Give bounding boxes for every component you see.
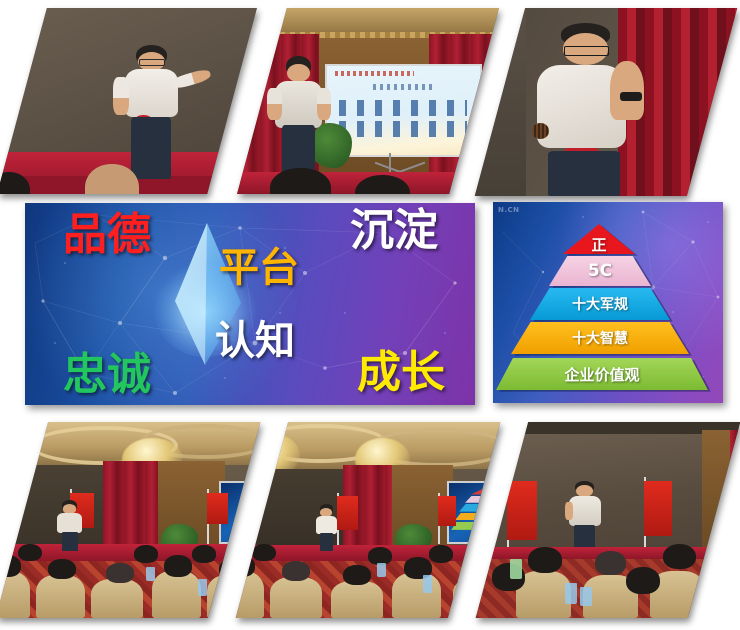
pyramid-level-2-label: 5C [588, 261, 612, 281]
red-flag [645, 481, 672, 536]
banner-word-renzhi: 认知 [215, 321, 295, 361]
scene-audience-left [0, 422, 260, 618]
water-bottle [377, 563, 386, 577]
scene-presenter-flags [476, 422, 740, 618]
values-keyword-banner: 品德 沉淀 平台 认知 忠诚 成长 [25, 203, 475, 405]
pyramid-level-1-label: 正 [591, 234, 606, 255]
pyramid-level-4-label: 十大智慧 [572, 328, 628, 348]
photo-speaker-with-projection-screen[interactable] [237, 8, 499, 194]
photo-audience-with-pyramid-slide[interactable] [236, 422, 501, 618]
banner-word-zhongcheng: 忠诚 [63, 353, 151, 397]
water-bottle [581, 587, 593, 607]
water-bottle [198, 579, 207, 597]
water-bottle [565, 583, 577, 605]
pyramid-level-5-label: 企业价值观 [564, 364, 639, 385]
scene-closeup-curtain [475, 8, 737, 196]
presenter [55, 500, 86, 551]
presenter [565, 481, 605, 555]
water-bottle [423, 575, 432, 593]
banner-word-pinde: 品德 [63, 213, 151, 257]
photo-presenter-between-two-flags[interactable] [476, 422, 740, 618]
photo-collage: 品德 沉淀 平台 认知 忠诚 成长 N.CN [0, 0, 740, 630]
corporate-culture-pyramid-panel: N.CN 正 5C 十大军规 十大智慧 企业价值观 [493, 202, 723, 403]
water-bottle [146, 567, 155, 581]
scene-audience-center [236, 422, 501, 618]
watermark-text: N.CN [498, 206, 520, 214]
red-flag [507, 481, 538, 540]
presenter [527, 23, 661, 196]
photo-speaker-gesturing-left[interactable] [0, 8, 257, 194]
banner-word-pingtai: 平台 [219, 248, 299, 288]
photo-audience-wide-view-left[interactable] [0, 422, 260, 618]
scene-stage-left [0, 8, 257, 194]
water-bottle [510, 559, 522, 579]
pyramid-level-3-label: 十大军规 [572, 294, 628, 314]
pyramid-level-4[interactable]: 十大智慧 [511, 322, 689, 354]
presenter [109, 45, 200, 179]
scene-hall-with-screen [237, 8, 499, 194]
pyramid-level-5[interactable]: 企业价值观 [496, 358, 708, 390]
banner-word-chengzhang: 成长 [357, 351, 445, 395]
banner-word-chendian: 沉淀 [350, 209, 438, 253]
pyramid-level-3[interactable]: 十大军规 [530, 288, 670, 320]
photo-speaker-closeup-raised-hand[interactable] [475, 8, 737, 196]
presenter [313, 504, 340, 551]
presenter [267, 56, 334, 179]
